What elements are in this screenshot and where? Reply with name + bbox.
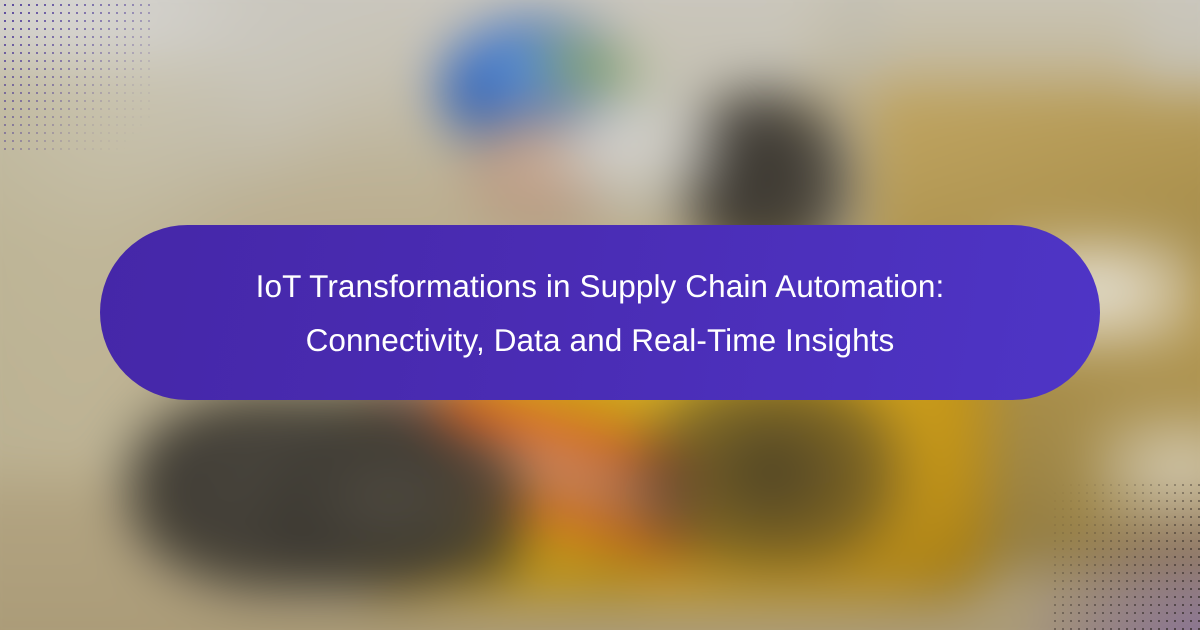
title-banner: IoT Transformations in Supply Chain Auto… (100, 225, 1100, 400)
page-title: IoT Transformations in Supply Chain Auto… (256, 259, 945, 367)
social-share-card: IoT Transformations in Supply Chain Auto… (0, 0, 1200, 630)
